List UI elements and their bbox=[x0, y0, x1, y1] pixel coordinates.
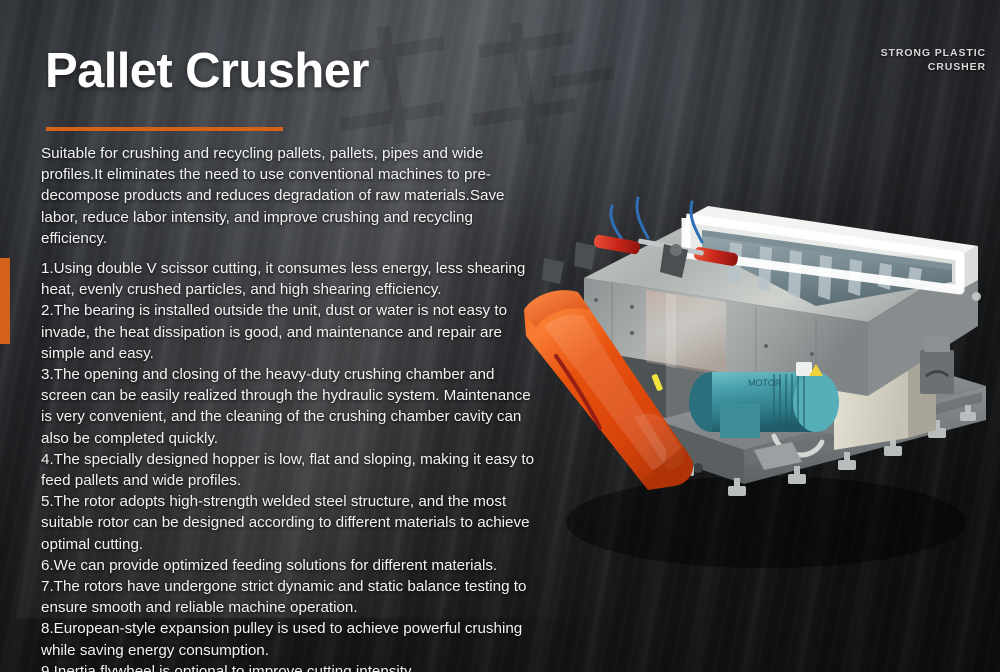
corner-label-line-2: CRUSHER bbox=[881, 60, 986, 74]
feature-item: 8.European-style expansion pulley is use… bbox=[41, 618, 537, 660]
product-image: MOTOR bbox=[516, 150, 1000, 580]
feature-item: 1.Using double V scissor cutting, it con… bbox=[41, 258, 537, 300]
feature-item: 2.The bearing is installed outside the u… bbox=[41, 300, 537, 364]
floor-marker-dot bbox=[972, 292, 981, 301]
feature-item: 9.Inertia flywheel is optional to improv… bbox=[41, 661, 537, 672]
feature-item: 4.The specially designed hopper is low, … bbox=[41, 449, 537, 491]
feature-item: 7.The rotors have undergone strict dynam… bbox=[41, 576, 537, 618]
feature-item: 3.The opening and closing of the heavy-d… bbox=[41, 364, 537, 449]
feature-item: 5.The rotor adopts high-strength welded … bbox=[41, 491, 537, 555]
corner-label-line-1: STRONG PLASTIC bbox=[881, 46, 986, 60]
motor-junction-box bbox=[720, 404, 760, 438]
svg-text:MOTOR: MOTOR bbox=[748, 378, 782, 388]
crusher-illustration: MOTOR bbox=[516, 150, 1000, 580]
intro-paragraph: Suitable for crushing and recycling pall… bbox=[41, 143, 537, 249]
left-accent-bar bbox=[0, 258, 10, 344]
description-block: Suitable for crushing and recycling pall… bbox=[41, 143, 537, 672]
product-poster: STRONG PLASTIC CRUSHER Pallet Crusher Su… bbox=[0, 0, 1000, 672]
feature-item: 6.We can provide optimized feeding solut… bbox=[41, 555, 537, 576]
title-underline-rule bbox=[46, 127, 283, 131]
corner-brand-label: STRONG PLASTIC CRUSHER bbox=[881, 46, 986, 74]
feature-list: 1.Using double V scissor cutting, it con… bbox=[41, 258, 537, 672]
control-box bbox=[920, 336, 954, 394]
page-title: Pallet Crusher bbox=[45, 47, 369, 96]
